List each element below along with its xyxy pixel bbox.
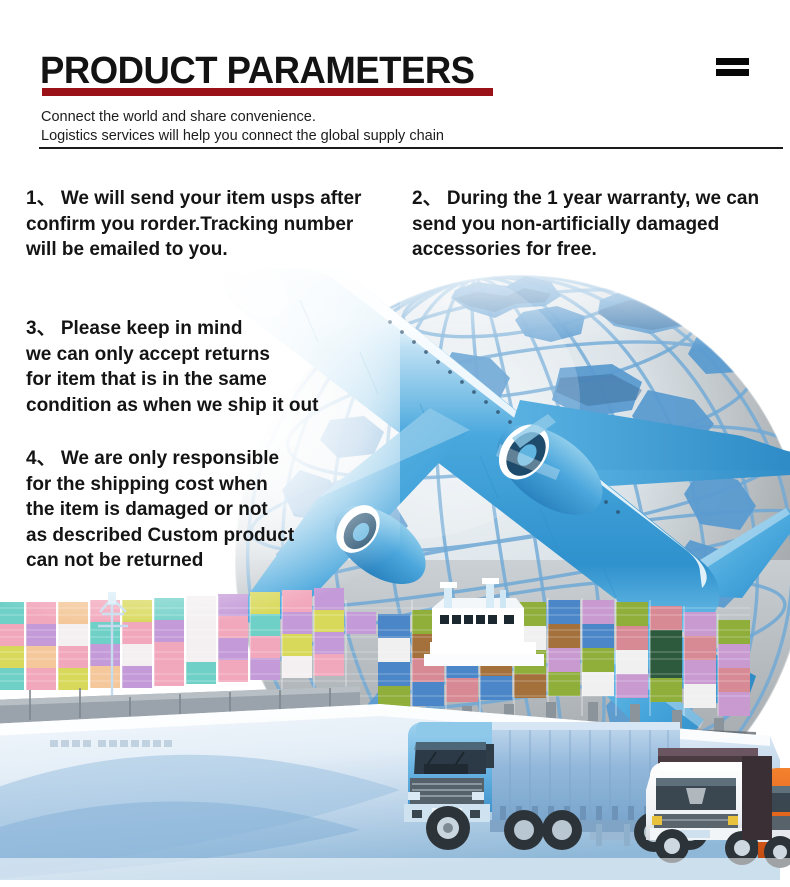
header-subtitle: Connect the world and share convenience.… [41, 108, 444, 146]
term-4-line-2: for the shipping cost when [26, 472, 356, 498]
term-1-block: 1、 We will send your item usps after con… [26, 186, 406, 263]
term-2-line-1: 2、 During the 1 year warranty, we can [412, 186, 784, 212]
term-3-line-4: condition as when we ship it out [26, 393, 356, 419]
hamburger-menu-icon[interactable] [716, 58, 749, 78]
product-parameters-page: PRODUCT PARAMETERS Connect the world and… [0, 0, 790, 887]
term-3-line-3: for item that is in the same [26, 367, 356, 393]
term-3-line-2: we can only accept returns [26, 342, 356, 368]
term-1-line-2: confirm you rorder.Tracking number [26, 212, 406, 238]
subtitle-line-2: Logistics services will help you connect… [41, 127, 444, 146]
term-3-line-1: 3、 Please keep in mind [26, 316, 356, 342]
term-4-line-1: 4、 We are only responsible [26, 446, 356, 472]
term-2-line-2: send you non-artificially damaged [412, 212, 784, 238]
hamburger-bar-top [716, 58, 749, 65]
term-4-line-4: as described Custom product [26, 523, 356, 549]
term-4-line-3: the item is damaged or not [26, 497, 356, 523]
title-underline [42, 88, 493, 96]
page-content: PRODUCT PARAMETERS Connect the world and… [0, 0, 790, 887]
term-4-line-5: can not be returned [26, 548, 356, 574]
hamburger-bar-bottom [716, 69, 749, 76]
term-1-line-3: will be emailed to you. [26, 237, 406, 263]
subtitle-line-1: Connect the world and share convenience. [41, 108, 444, 127]
term-1-line-1: 1、 We will send your item usps after [26, 186, 406, 212]
term-3-block: 3、 Please keep in mind we can only accep… [26, 316, 356, 418]
term-2-line-3: accessories for free. [412, 237, 784, 263]
header-divider [39, 147, 783, 149]
page-title: PRODUCT PARAMETERS [40, 50, 475, 93]
term-2-block: 2、 During the 1 year warranty, we can se… [412, 186, 784, 263]
term-4-block: 4、 We are only responsible for the shipp… [26, 446, 356, 574]
